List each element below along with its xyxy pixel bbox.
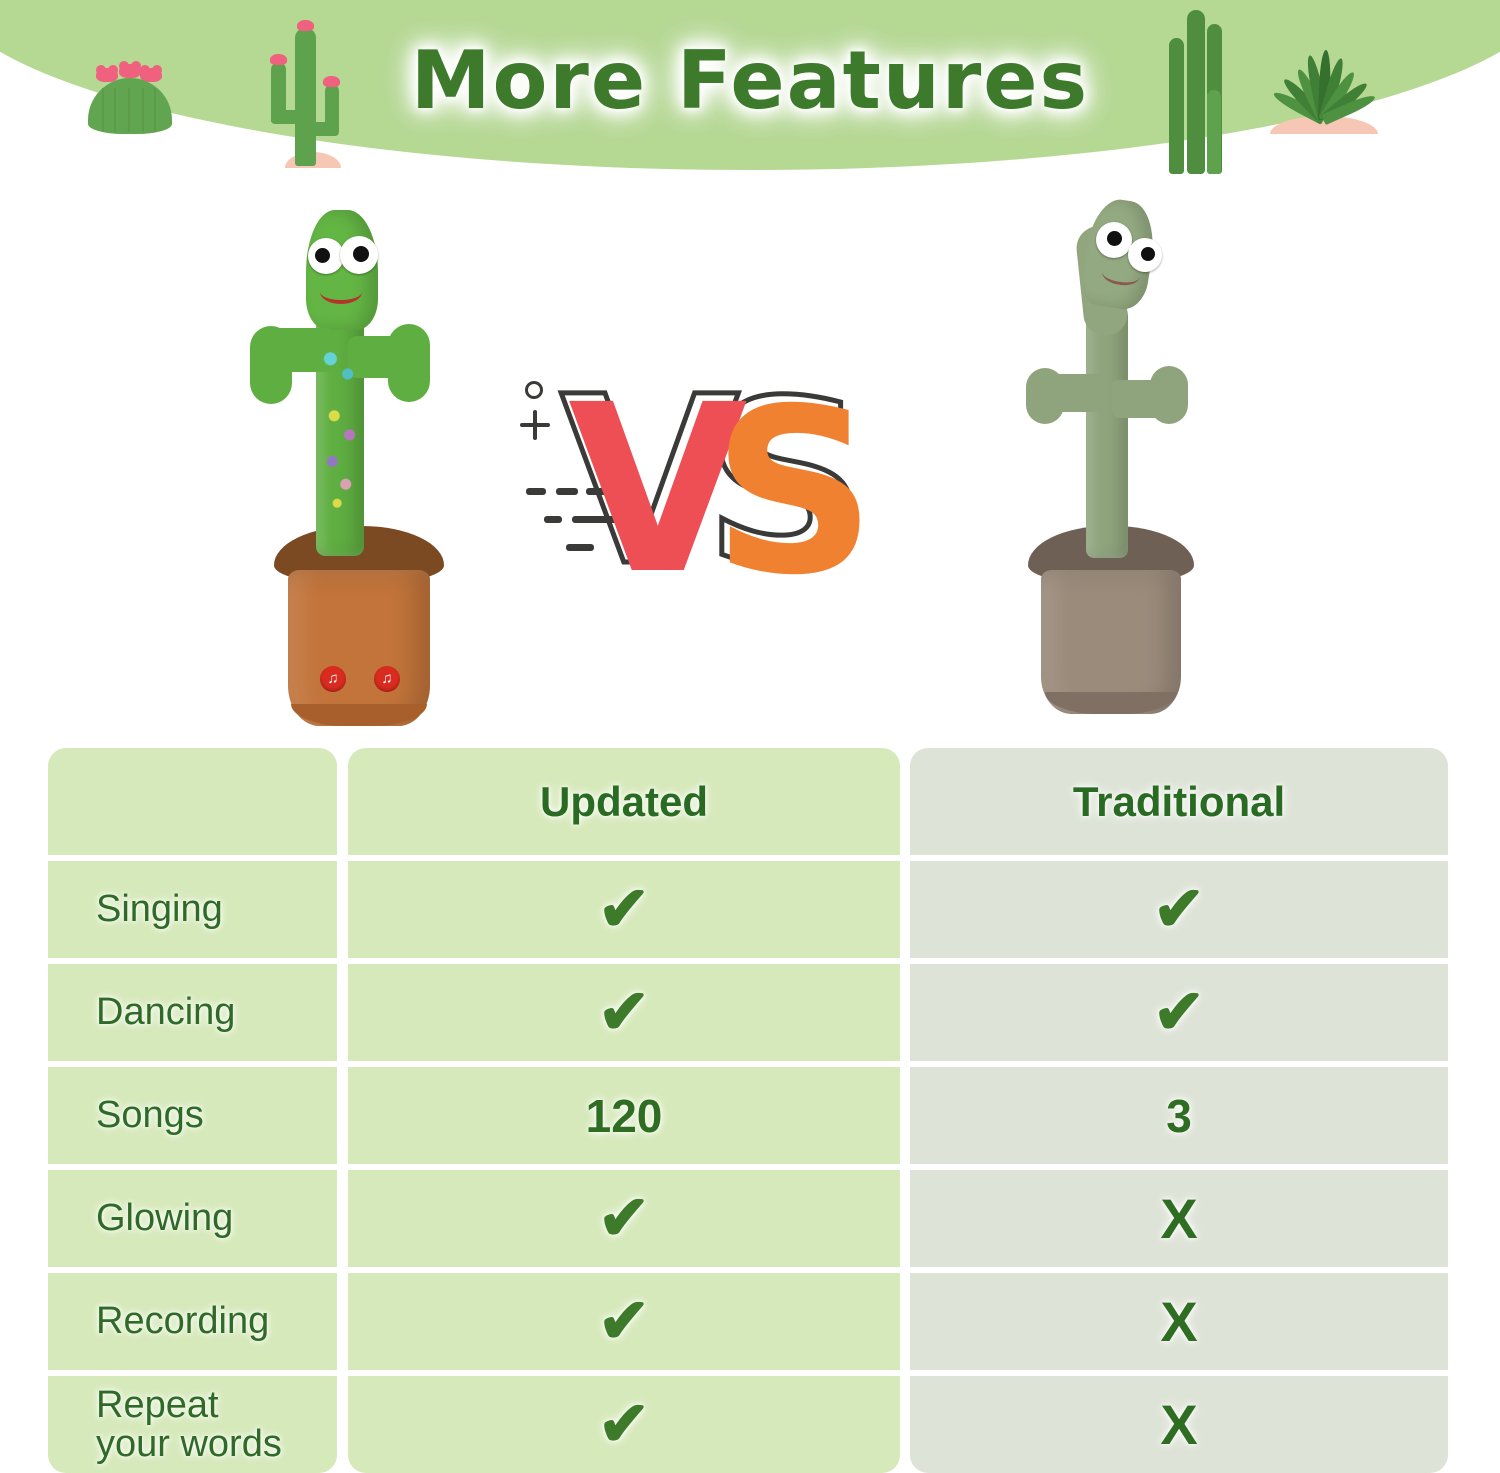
feature-label: Glowing (48, 1199, 233, 1238)
updated-column-header: Updated (348, 748, 900, 855)
sparkle-center-icon (525, 381, 543, 399)
product-image-traditional-cactus-toy (1000, 186, 1232, 714)
speed-line-1 (526, 488, 546, 495)
feature-label: Singing (48, 890, 223, 929)
cross-icon: X (910, 1397, 1448, 1453)
table-cell-updated: ✔ (348, 1170, 900, 1267)
music-note-button-left[interactable]: ♫ (320, 666, 346, 692)
table-cell-traditional: X (910, 1273, 1448, 1370)
table-row: Glowing (48, 1170, 337, 1267)
feature-column-header (48, 748, 337, 855)
table-cell-updated: ✔ (348, 1273, 900, 1370)
table-cell-traditional: 3 (910, 1067, 1448, 1164)
sparkle-icon (520, 410, 550, 440)
table-cell-traditional: ✔ (910, 964, 1448, 1061)
cactus-arm-right-up-traditional (1150, 366, 1188, 424)
feature-label-line1: Repeat (96, 1384, 219, 1426)
check-icon: ✔ (348, 982, 900, 1044)
table-row: Recording (48, 1273, 337, 1370)
feature-label-multiline: Repeat your words (48, 1386, 282, 1464)
toy-eye-left-traditional (1096, 222, 1132, 258)
table-cell-updated: ✔ (348, 964, 900, 1061)
vs-badge: V S V S (516, 372, 916, 652)
table-cell-updated: ✔ (348, 861, 900, 958)
feature-label: Recording (48, 1302, 269, 1341)
table-row: Songs (48, 1067, 337, 1164)
table-row: Singing (48, 861, 337, 958)
songs-count-updated: 120 (348, 1089, 900, 1143)
check-icon: ✔ (348, 1394, 900, 1456)
table-row: Dancing (48, 964, 337, 1061)
feature-label: Dancing (48, 993, 235, 1032)
table-cell-traditional: X (910, 1376, 1448, 1473)
table-cell-traditional: X (910, 1170, 1448, 1267)
table-column-updated: Updated ✔ ✔ 120 ✔ ✔ ✔ (348, 748, 900, 1442)
cross-icon: X (910, 1191, 1448, 1247)
toy-eye-left-updated (308, 238, 344, 274)
table-cell-updated: 120 (348, 1067, 900, 1164)
updated-column-header-label: Updated (348, 778, 900, 826)
toy-pot-updated: ♫ ♫ (274, 526, 444, 726)
check-icon: ✔ (348, 1291, 900, 1353)
glow-sequins-updated (316, 336, 364, 526)
toy-mouth-updated (320, 280, 362, 304)
check-icon: ✔ (348, 1188, 900, 1250)
check-icon: ✔ (910, 982, 1448, 1044)
cactus-arm-left-up-traditional (1026, 368, 1064, 424)
feature-label-line2: your words (96, 1423, 282, 1465)
check-icon: ✔ (348, 879, 900, 941)
cactus-arm-left-up-updated (250, 326, 292, 404)
songs-count-traditional: 3 (910, 1089, 1448, 1143)
page-title: More Features (0, 34, 1500, 127)
table-column-traditional: Traditional ✔ ✔ 3 X X X (910, 748, 1448, 1442)
music-note-button-right[interactable]: ♫ (374, 666, 400, 692)
table-cell-updated: ✔ (348, 1376, 900, 1473)
cross-icon: X (910, 1294, 1448, 1350)
feature-label: Songs (48, 1096, 204, 1135)
toy-eye-right-updated (340, 236, 378, 274)
traditional-column-header-label: Traditional (910, 778, 1448, 826)
traditional-column-header: Traditional (910, 748, 1448, 855)
table-row: Repeat your words (48, 1376, 337, 1473)
cactus-arm-right-up-updated (388, 324, 430, 402)
vs-letter-s: S (712, 378, 876, 606)
check-icon: ✔ (910, 879, 1448, 941)
table-column-features: Singing Dancing Songs Glowing Recording … (48, 748, 337, 1442)
comparison-table: Singing Dancing Songs Glowing Recording … (48, 748, 1448, 1442)
table-cell-traditional: ✔ (910, 861, 1448, 958)
product-image-updated-cactus-toy: ♫ ♫ (228, 196, 478, 744)
header-banner: More Features (0, 0, 1500, 175)
